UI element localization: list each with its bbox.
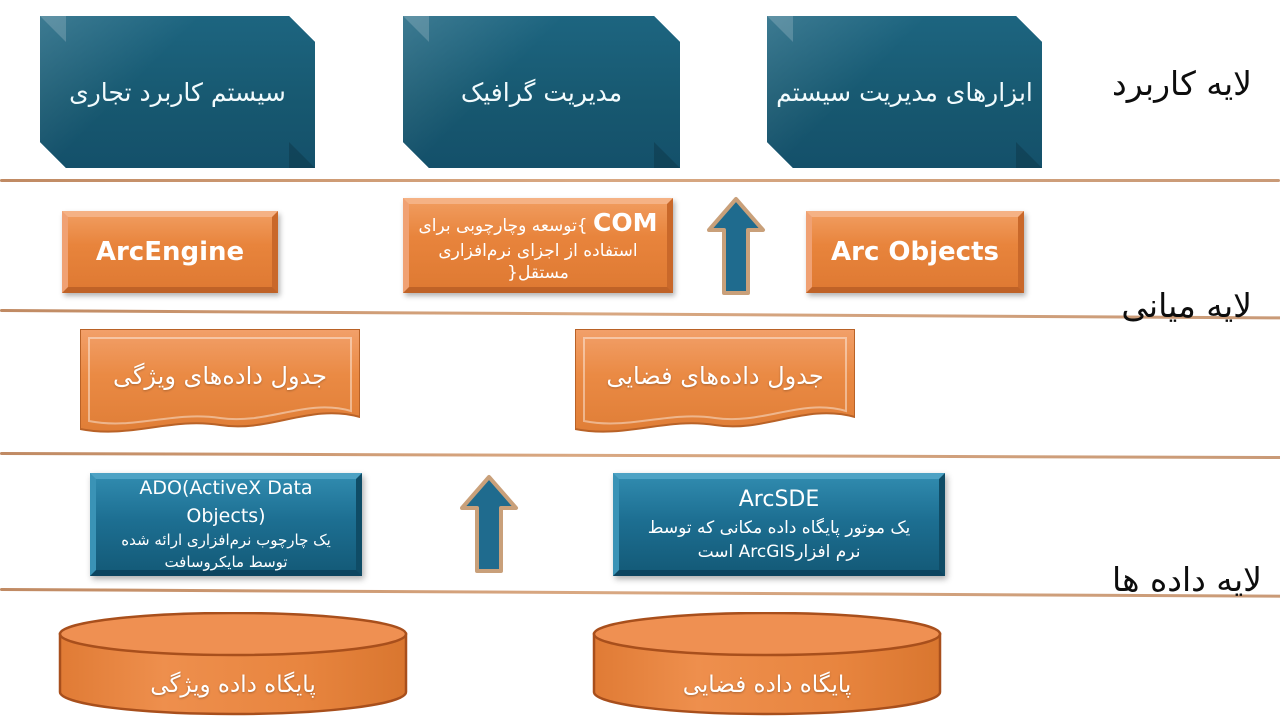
database-label: پایگاه داده فضایی [683,672,852,716]
data-box-arcsde[interactable]: ArcSDE یک موتور پایگاه داده مکانی که توس… [613,473,945,576]
table-label: جدول داده‌های ویژگی [113,362,327,390]
layer-label-application: لایه کاربرد [1112,66,1252,102]
arcsde-description-line1: یک موتور پایگاه داده مکانی که توسط [648,516,911,541]
table-spatial-data[interactable]: جدول داده‌های فضایی [575,329,855,439]
bevel-corner-icon [403,16,429,42]
layer-label-data: لایه داده ها [1112,562,1262,598]
com-description-part: }توسعه وچارچوبی برای [418,216,587,236]
middle-box-arcengine[interactable]: ArcEngine [62,211,278,293]
bevel-corner-icon [40,16,66,42]
divider-data-databases [0,588,1280,598]
app-card-label: مدیریت گرافیک [461,76,622,109]
divider-application-middle [0,179,1280,182]
com-description-line3: مستقل{ [507,262,569,284]
app-card-system-management-tools[interactable]: ابزارهای مدیریت سیستم [767,16,1042,168]
ado-title: ADO(ActiveX Data Objects) [104,475,348,530]
app-card-label: سیستم کاربرد تجاری [69,76,286,109]
com-description-line1: COM }توسعه وچارچوبی برای [418,207,657,240]
diagram-canvas: لایه کاربرد لایه میانی لایه داده ها سیست… [0,0,1280,720]
table-label: جدول داده‌های فضایی [606,362,823,390]
bevel-corner-icon [767,16,793,42]
app-card-business-app-system[interactable]: سیستم کاربرد تجاری [40,16,315,168]
middle-box-arc-objects[interactable]: Arc Objects [806,211,1024,293]
table-attribute-data[interactable]: جدول داده‌های ویژگی [80,329,360,439]
arcsde-title: ArcSDE [739,484,820,516]
middle-box-label: ArcEngine [96,235,244,269]
divider-tables-data [0,452,1280,459]
database-label: پایگاه داده ویژگی [150,672,315,716]
arcsde-description-line2: نرم افزارArcGIS است [698,540,861,565]
middle-box-com[interactable]: COM }توسعه وچارچوبی برای استفاده از اجزا… [403,198,673,293]
divider-middle-tables [0,309,1280,319]
bevel-corner-icon [654,142,680,168]
app-card-graphics-management[interactable]: مدیریت گرافیک [403,16,680,168]
app-card-label: ابزارهای مدیریت سیستم [776,76,1033,109]
arrow-data-up [458,474,520,575]
layer-label-middle: لایه میانی [1121,288,1252,324]
database-attribute[interactable]: پایگاه داده ویژگی [58,612,408,716]
ado-description-line2: توسط مایکروسافت [164,552,287,574]
com-description-line2: استفاده از اجزای نرم‌افزاری [438,240,637,262]
database-spatial[interactable]: پایگاه داده فضایی [592,612,942,716]
arrow-middle-up [705,196,767,297]
bevel-corner-icon [1016,142,1042,168]
data-box-ado[interactable]: ADO(ActiveX Data Objects) یک چارچوب نرم‌… [90,473,362,576]
middle-box-label: Arc Objects [831,235,999,269]
bevel-corner-icon [289,142,315,168]
com-title: COM [593,208,657,237]
ado-description-line1: یک چارچوب نرم‌افزاری ارائه شده [121,530,331,552]
